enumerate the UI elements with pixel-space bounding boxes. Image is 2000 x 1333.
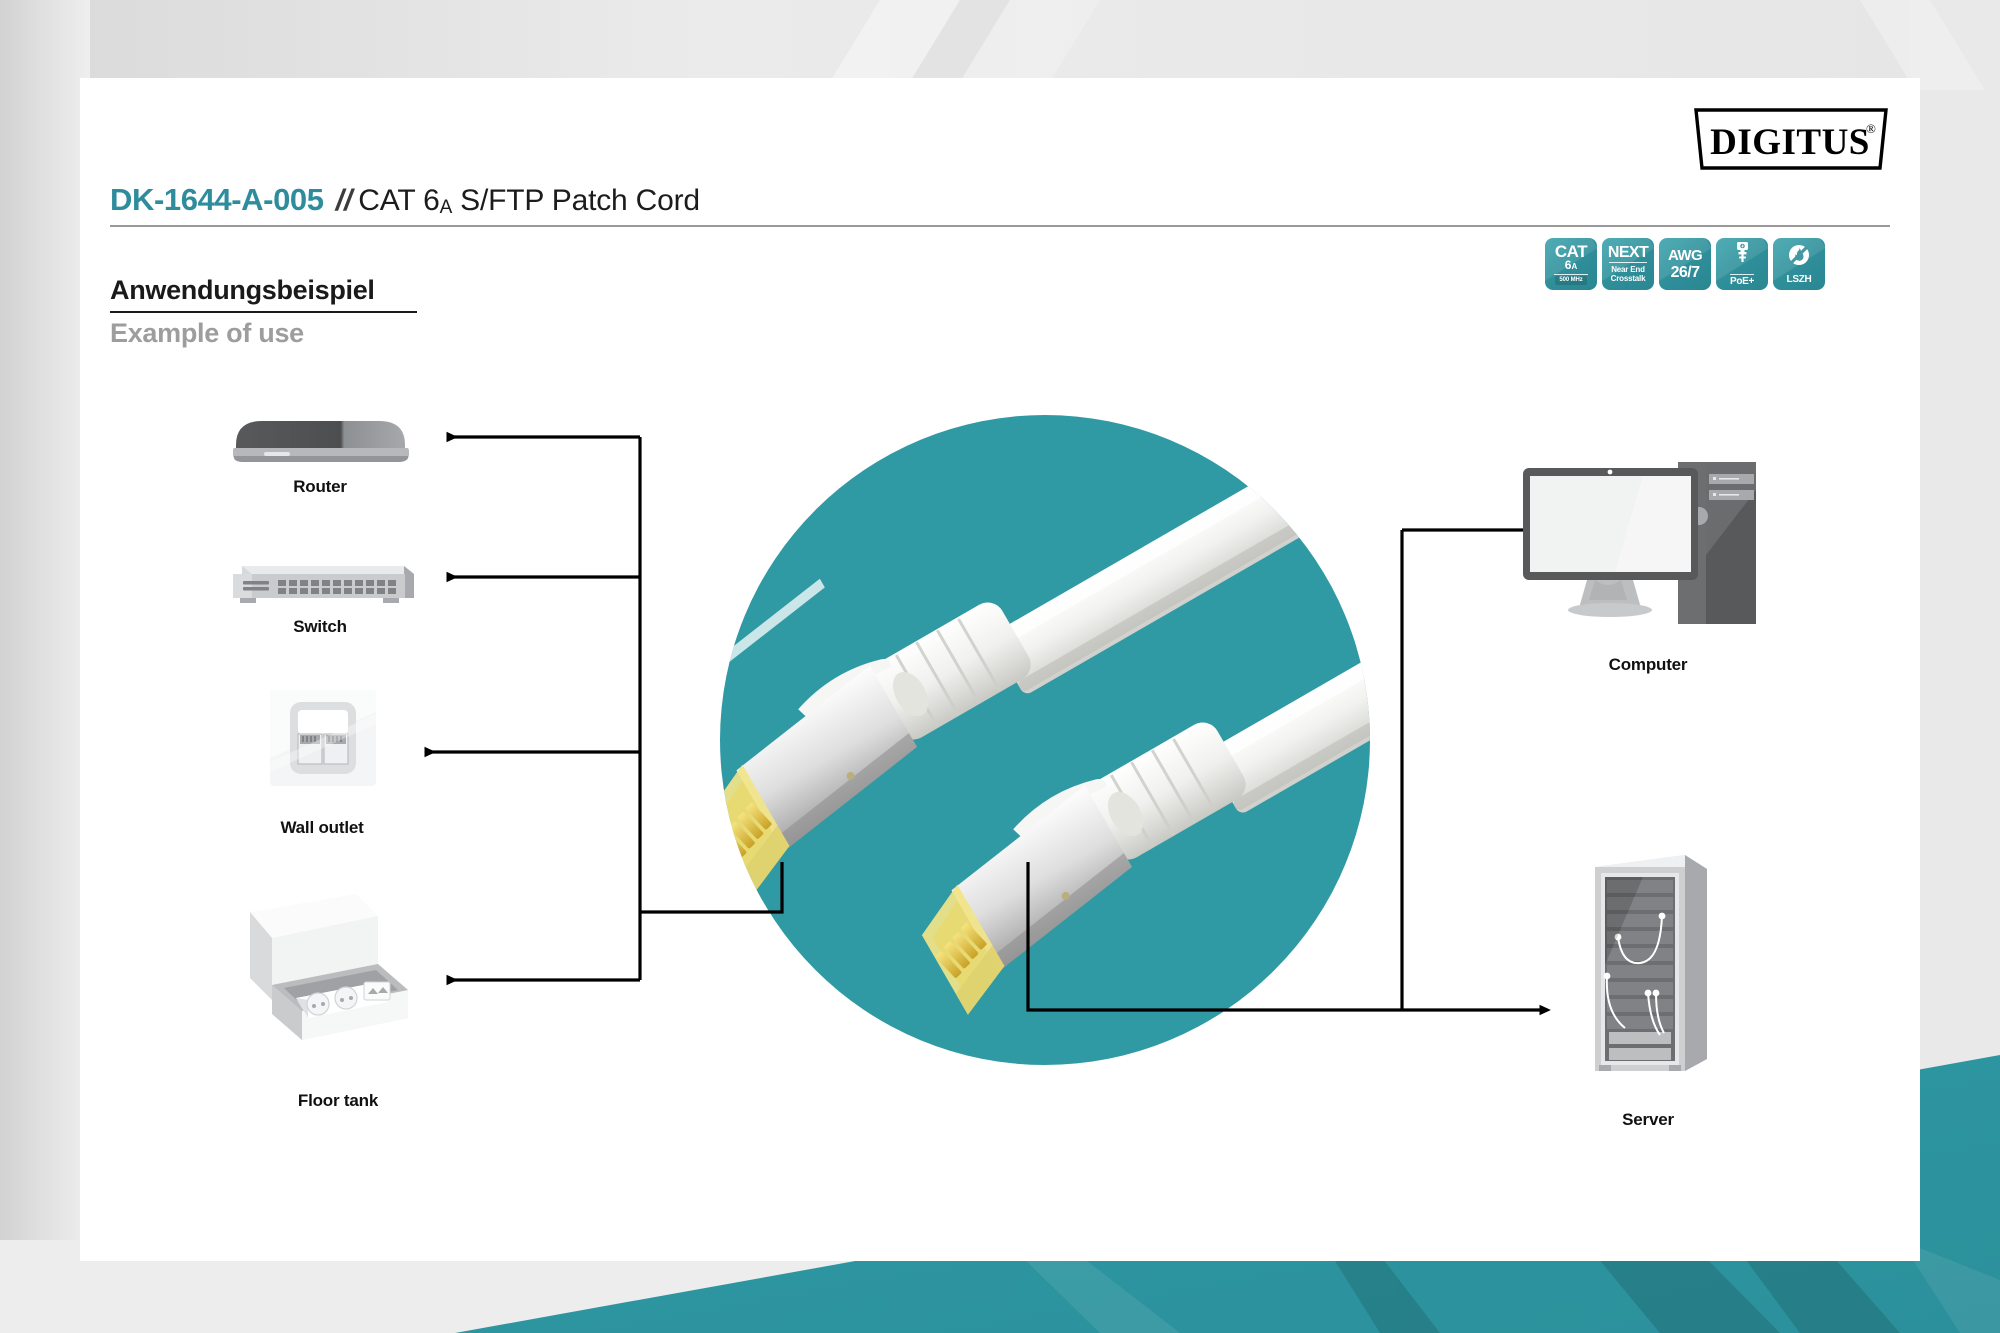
badge-cat-frequency: 500 MHz xyxy=(1555,276,1586,285)
logo-registered-mark: ® xyxy=(1866,121,1876,136)
badge-poe-label: PoE+ xyxy=(1730,274,1754,287)
logo-wordmark: DIGITUS xyxy=(1710,122,1870,163)
title-divider xyxy=(110,225,1890,227)
badge-divider xyxy=(1609,262,1647,263)
section-heading-underline xyxy=(110,311,417,313)
badge-cat-class: A xyxy=(1571,262,1577,271)
floor-tank-label: Floor tank xyxy=(298,1091,378,1111)
badge-lszh-label: LSZH xyxy=(1787,274,1812,285)
badge-divider xyxy=(1554,274,1588,275)
badge-awg-main: AWG xyxy=(1668,248,1702,264)
certification-badges: CAT 6A 500 MHz NEXT Near End Crosstalk A… xyxy=(1545,238,1825,290)
badge-poe: PoE+ xyxy=(1716,238,1768,290)
badge-cat-main: CAT xyxy=(1555,244,1587,259)
computer-icon xyxy=(1523,460,1773,635)
badge-cat-category: 6A xyxy=(1565,259,1577,273)
wall-outlet-label: Wall outlet xyxy=(280,818,363,838)
product-description: CAT 6A S/FTP Patch Cord xyxy=(358,184,700,217)
router-icon xyxy=(228,415,413,465)
switch-label: Switch xyxy=(293,617,347,637)
badge-next-main: NEXT xyxy=(1608,245,1648,260)
badge-awg: AWG 26/7 xyxy=(1659,238,1711,290)
product-name-prefix: CAT 6 xyxy=(358,184,439,217)
badge-next: NEXT Near End Crosstalk xyxy=(1602,238,1654,290)
badge-cat6a: CAT 6A 500 MHz xyxy=(1545,238,1597,290)
section-heading-en: Example of use xyxy=(110,318,304,349)
computer-label: Computer xyxy=(1609,655,1688,675)
badge-awg-value: 26/7 xyxy=(1671,264,1700,281)
server-icon xyxy=(1585,845,1715,1075)
badge-next-line1: Near End xyxy=(1611,265,1645,274)
badge-next-line2: Crosstalk xyxy=(1611,274,1646,283)
router-label: Router xyxy=(293,477,347,497)
page-title: DK-1644-A-005//CAT 6A S/FTP Patch Cord xyxy=(110,182,700,219)
floor-tank-icon xyxy=(238,890,423,1045)
product-sku: DK-1644-A-005 xyxy=(110,182,324,217)
wall-outlet-icon xyxy=(268,688,378,788)
digitus-logo: DIGITUS ® xyxy=(1690,108,1890,170)
product-name-suffix: S/FTP Patch Cord xyxy=(452,184,700,217)
no-flame-icon xyxy=(1787,243,1811,272)
title-separator: // xyxy=(324,184,359,217)
badge-lszh: LSZH xyxy=(1773,238,1825,290)
server-label: Server xyxy=(1622,1110,1674,1130)
switch-icon xyxy=(228,556,418,606)
product-name-subscript: A xyxy=(440,197,452,218)
section-heading-de: Anwendungsbeispiel xyxy=(110,275,375,306)
rj45-plug-icon xyxy=(1734,241,1751,272)
